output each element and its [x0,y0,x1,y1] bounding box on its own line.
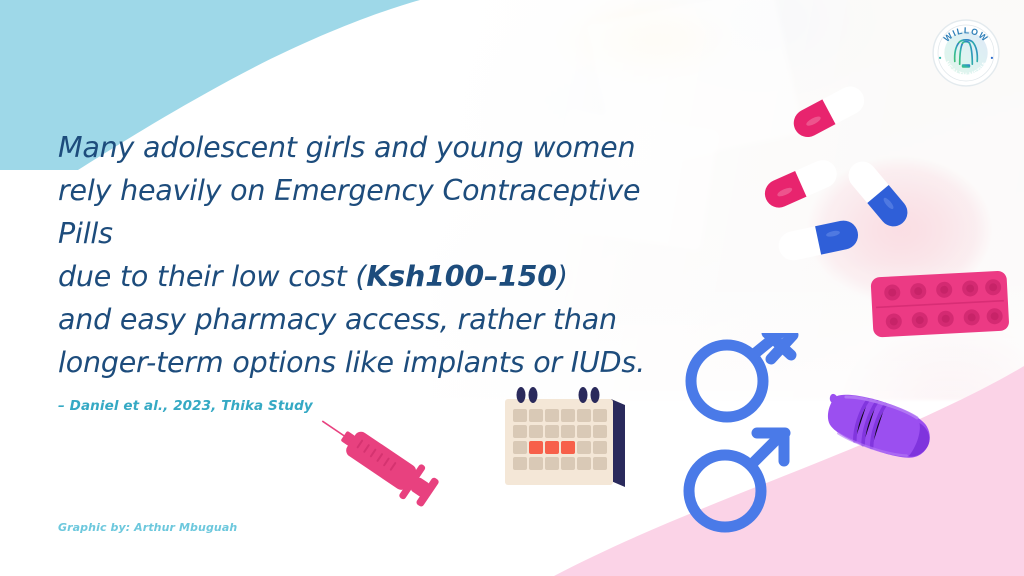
quote-line-3-post: ) [557,260,568,293]
capsule-blue-2 [776,218,861,263]
quote-line-4: and easy pharmacy access, rather than [58,298,698,341]
capsule-pink-1 [789,82,869,142]
male-symbol [689,433,785,527]
citation-text: – Daniel et al., 2023, Thika Study [58,398,313,414]
capsule-pink-2 [760,156,841,212]
syringe-icon [305,408,450,508]
price-amount: Ksh100–150 [366,260,557,293]
gender-symbols [675,333,835,548]
blister-pack-icon [866,266,1016,344]
calendar-highlighted-days [529,441,575,454]
female-symbol [691,333,793,417]
graphic-credit-text: Graphic by: Arthur Mbuguah [58,521,237,534]
capsule-blue-1 [843,156,913,232]
infographic-canvas: Many adolescent girls and young women re… [0,0,1024,576]
quote-line-3-pre: due to their low cost ( [58,260,366,293]
quote-line-5: longer-term options like implants or IUD… [58,341,698,384]
quote-text: Many adolescent girls and young women re… [58,126,698,384]
capsule-pills [760,72,945,272]
quote-line-1: Many adolescent girls and young women [58,126,698,169]
condom-wrapper-icon [816,378,944,478]
quote-line-3: due to their low cost (Ksh100–150) [58,255,698,298]
quote-line-2: rely heavily on Emergency Contraceptive … [58,169,698,255]
calendar-icon [495,383,635,495]
